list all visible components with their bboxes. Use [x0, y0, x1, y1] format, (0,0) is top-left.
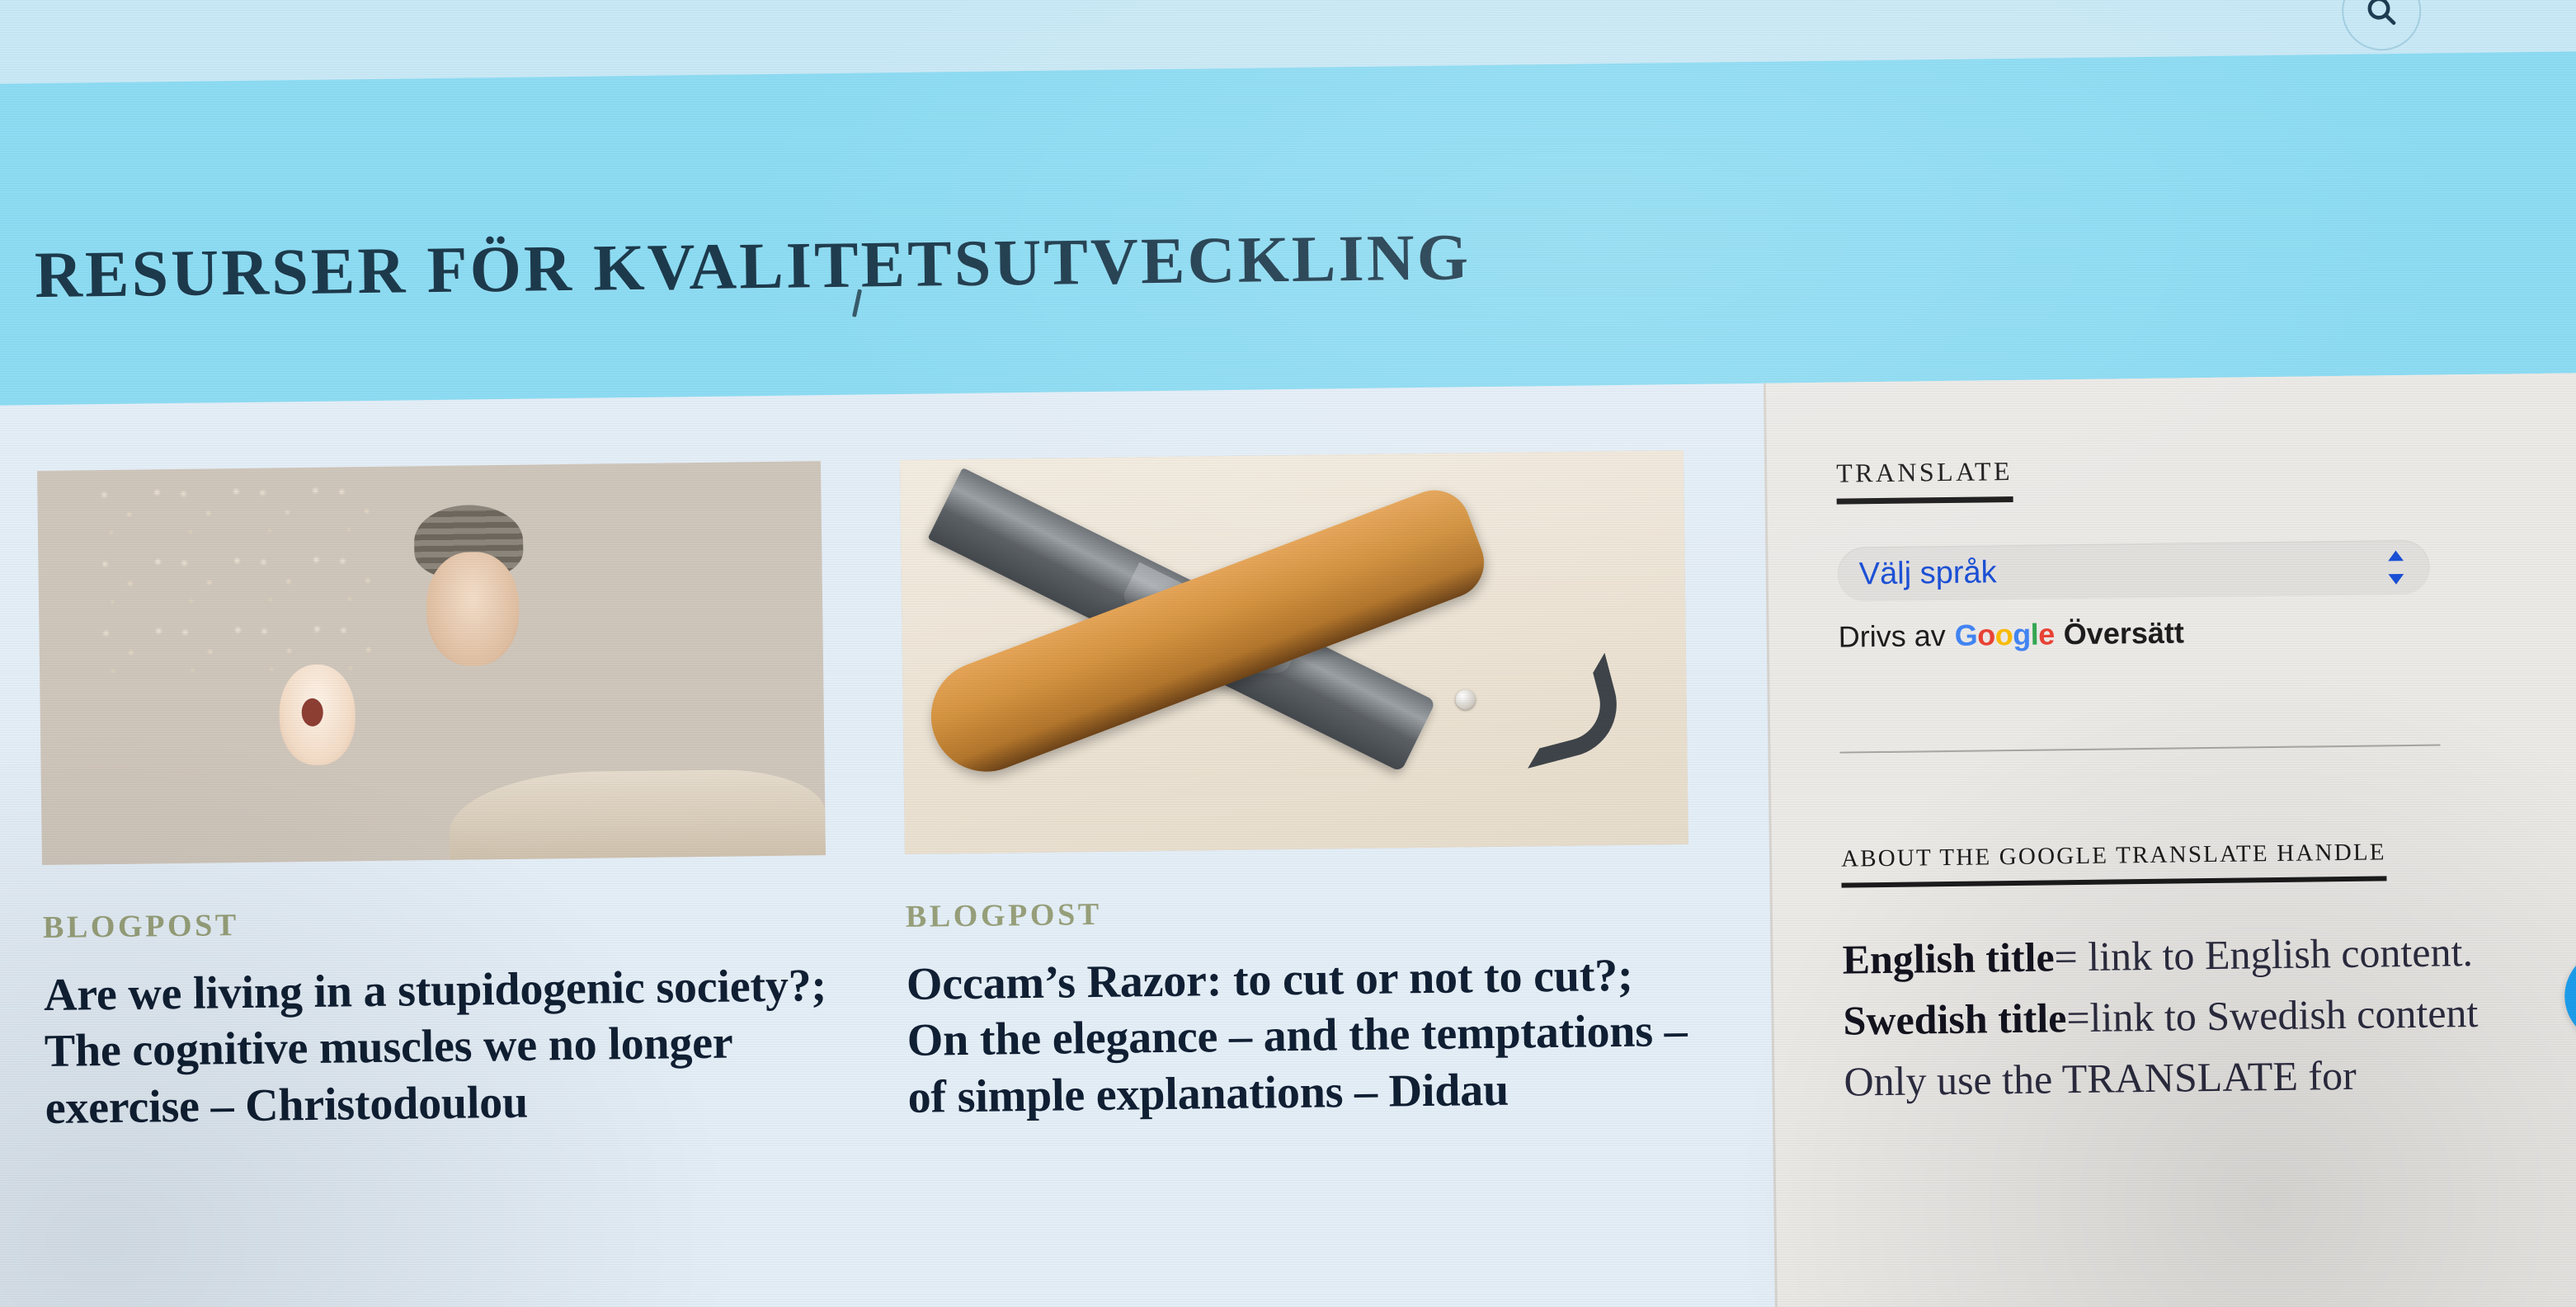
post-thumbnail[interactable] [900, 450, 1688, 854]
sidebar-divider [1839, 744, 2440, 753]
post-title-link[interactable]: Are we living in a stupidogenic society?… [44, 957, 830, 1136]
twitter-share-icon[interactable] [2564, 949, 2576, 1042]
about-text-swedish-rest: =link to Swedish content [2066, 990, 2479, 1041]
language-select-wrapper: Välj språk [1837, 540, 2430, 602]
site-banner: RESURSER FÖR KVALITETSUTVECKLING [0, 51, 2576, 406]
page-body: BLOGPOST Are we living in a stupidogenic… [0, 373, 2576, 1307]
photo-detail-tang [1505, 653, 1628, 769]
powered-suffix: Översätt [2064, 615, 2185, 651]
about-bold-swedish: Swedish title [1843, 994, 2067, 1043]
language-select[interactable]: Välj språk [1837, 540, 2430, 602]
photo-detail-woman-face [426, 552, 520, 666]
post-kicker: BLOGPOST [906, 889, 1689, 935]
photo-detail-child-mouth [302, 698, 323, 726]
search-button[interactable] [2342, 0, 2422, 51]
about-bold-english: English title [1842, 933, 2055, 982]
post-title-link[interactable]: Occam’s Razor: to cut or not to cut?; On… [906, 947, 1692, 1126]
about-text-english-rest: = link to English content. [2054, 929, 2473, 980]
translate-widget-heading: TRANSLATE [1836, 456, 2013, 505]
about-widget-body: English title= link to English content. … [1842, 920, 2555, 1112]
post-thumbnail[interactable] [37, 461, 826, 865]
powered-by-google-translate: Drivs av Google Översätt [1838, 611, 2548, 655]
photo-detail-rack [92, 478, 377, 687]
about-widget-heading: ABOUT THE GOOGLE TRANSLATE HANDLE [1841, 839, 2386, 887]
market-stall-photo [37, 461, 826, 865]
sidebar: TRANSLATE Välj språk Drivs av [1764, 373, 2576, 1307]
post-card[interactable]: BLOGPOST Are we living in a stupidogenic… [37, 461, 829, 1136]
search-icon [2364, 0, 2399, 29]
straight-razor-photo [900, 450, 1688, 854]
google-logo: Google [1954, 617, 2055, 653]
powered-prefix: Drivs av [1838, 618, 1946, 655]
post-card-grid: BLOGPOST Are we living in a stupidogenic… [37, 449, 1773, 1136]
main-content: BLOGPOST Are we living in a stupidogenic… [0, 383, 1776, 1307]
photo-detail-tablecloth [449, 769, 826, 860]
website-screen: RESURSER FÖR KVALITETSUTVECKLING [0, 0, 2576, 1307]
post-kicker: BLOGPOST [43, 900, 826, 946]
photo-detail-pivot-pin [1455, 689, 1475, 709]
post-card[interactable]: BLOGPOST Occam’s Razor: to cut or not to… [900, 450, 1692, 1126]
about-text-only-use: Only use the TRANSLATE for [1844, 1052, 2357, 1105]
page-title: RESURSER FÖR KVALITETSUTVECKLING [34, 220, 1471, 313]
photographed-screen: RESURSER FÖR KVALITETSUTVECKLING [0, 0, 2576, 1307]
